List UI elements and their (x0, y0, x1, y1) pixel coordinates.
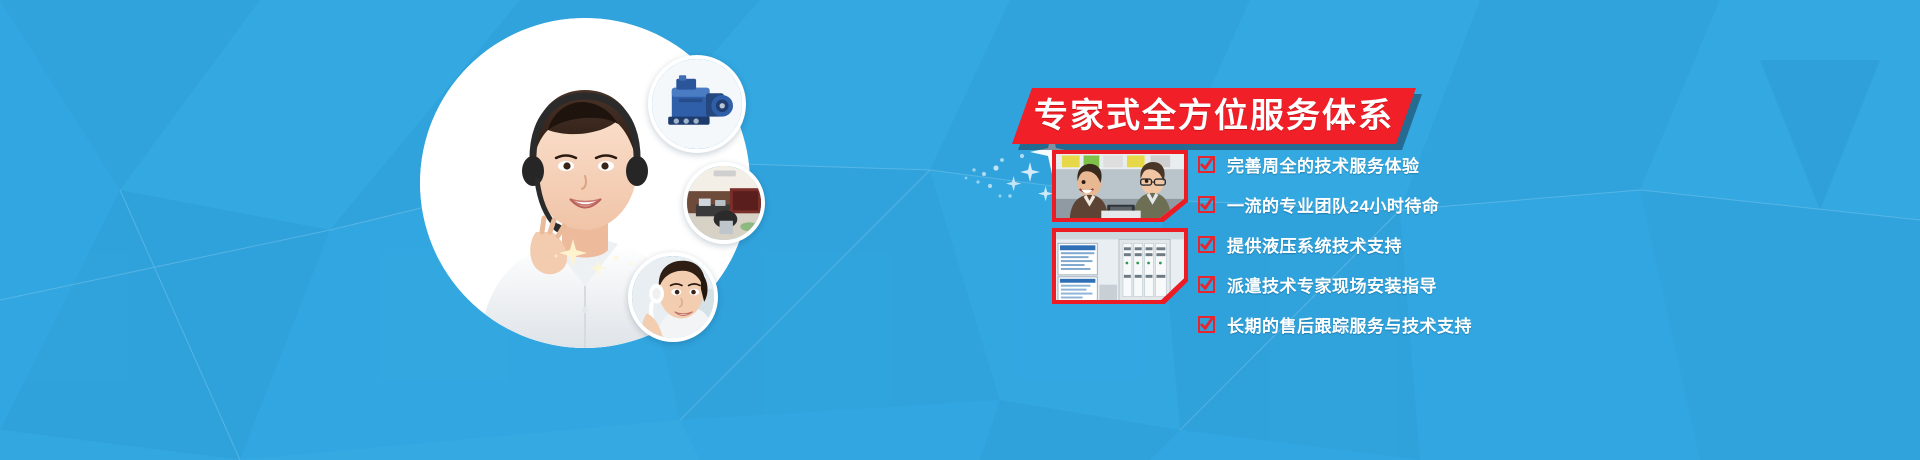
check-icon (1198, 236, 1215, 253)
check-icon (1198, 196, 1215, 213)
service-banner: 专家式全方位服务体系 (0, 0, 1920, 460)
hydraulic-pump-thumb (648, 55, 746, 153)
check-icon (1198, 156, 1215, 173)
feature-item: 完善周全的技术服务体验 (1198, 150, 1618, 179)
feature-item: 一流的专业团队24小时待命 (1198, 190, 1618, 219)
feature-label: 长期的售后跟踪服务与技术支持 (1227, 312, 1472, 337)
office-thumb (683, 162, 765, 244)
hero-group (400, 0, 960, 460)
ribbon-body: 专家式全方位服务体系 (1012, 88, 1416, 144)
agent-thumb (628, 252, 718, 342)
check-icon (1198, 316, 1215, 333)
feature-list: 完善周全的技术服务体验 一流的专业团队24小时待命 (1198, 150, 1618, 350)
title-ribbon: 专家式全方位服务体系 (1012, 88, 1416, 144)
feature-label: 派遣技术专家现场安装指导 (1227, 272, 1437, 297)
feature-label: 完善周全的技术服务体验 (1227, 152, 1420, 177)
feature-item: 长期的售后跟踪服务与技术支持 (1198, 310, 1618, 339)
feature-label: 提供液压系统技术支持 (1227, 232, 1402, 257)
page-title: 专家式全方位服务体系 (1034, 99, 1394, 133)
feature-label: 一流的专业团队24小时待命 (1227, 192, 1439, 217)
feature-item: 提供液压系统技术支持 (1198, 230, 1618, 259)
content-panel: 专家式全方位服务体系 (1000, 0, 1620, 460)
meeting-photo (1052, 150, 1188, 222)
control-cabinet-photo (1052, 228, 1188, 304)
feature-item: 派遣技术专家现场安装指导 (1198, 270, 1618, 299)
low-poly-background (0, 0, 1920, 460)
check-icon (1198, 276, 1215, 293)
